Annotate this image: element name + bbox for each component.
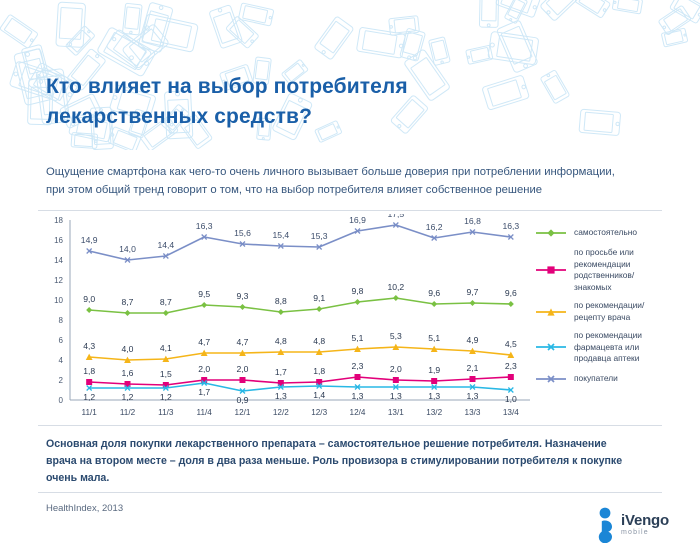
svg-text:9,3: 9,3 [237, 291, 249, 301]
svg-text:4,8: 4,8 [313, 336, 325, 346]
svg-text:9,5: 9,5 [198, 289, 210, 299]
svg-text:1,8: 1,8 [313, 366, 325, 376]
svg-text:4,1: 4,1 [160, 343, 172, 353]
svg-text:11/1: 11/1 [82, 408, 98, 417]
legend-item-1[interactable]: самостоятельно [534, 226, 694, 240]
svg-text:0,9: 0,9 [237, 395, 249, 405]
svg-text:4,5: 4,5 [505, 339, 517, 349]
svg-text:9,6: 9,6 [428, 288, 440, 298]
legend-item-label: по просьбе илирекомендацииродственников/… [568, 247, 634, 293]
svg-text:9,0: 9,0 [83, 294, 95, 304]
svg-text:13/2: 13/2 [426, 408, 442, 417]
svg-text:2,1: 2,1 [467, 363, 479, 373]
svg-text:13/1: 13/1 [388, 408, 404, 417]
svg-text:1,2: 1,2 [122, 392, 134, 402]
svg-text:1,2: 1,2 [83, 392, 95, 402]
svg-text:2,0: 2,0 [390, 364, 402, 374]
svg-text:1,3: 1,3 [467, 391, 479, 401]
svg-text:16,3: 16,3 [196, 221, 213, 231]
conclusion-line-2: врача на втором месте – доля в два раза … [46, 453, 656, 470]
svg-text:14: 14 [54, 256, 63, 265]
svg-text:12/2: 12/2 [273, 408, 289, 417]
subtitle-line-2: при этом общий тренд говорит о том, что … [46, 181, 666, 199]
svg-text:11/4: 11/4 [197, 408, 213, 417]
svg-text:17,5: 17,5 [387, 214, 404, 219]
svg-text:9,8: 9,8 [352, 286, 364, 296]
svg-text:9,6: 9,6 [505, 288, 517, 298]
svg-text:1,7: 1,7 [275, 367, 287, 377]
svg-text:14,9: 14,9 [81, 235, 98, 245]
svg-text:15,6: 15,6 [234, 228, 251, 238]
svg-text:1,0: 1,0 [505, 394, 517, 404]
svg-text:1,3: 1,3 [352, 391, 364, 401]
legend-marker-icon [534, 226, 568, 240]
legend-item-label: покупатели [568, 373, 618, 385]
svg-text:12: 12 [54, 276, 63, 285]
svg-text:14,0: 14,0 [119, 244, 136, 254]
ivengo-logo-text: iVengo mobile [616, 513, 669, 538]
svg-text:11/3: 11/3 [158, 408, 174, 417]
svg-text:10,2: 10,2 [387, 282, 404, 292]
svg-text:13/4: 13/4 [503, 408, 519, 417]
svg-text:6: 6 [59, 336, 64, 345]
svg-text:8,7: 8,7 [122, 297, 134, 307]
svg-text:1,6: 1,6 [122, 368, 134, 378]
title-line-1: Кто влияет на выбор потребителя [46, 72, 516, 102]
svg-text:4,7: 4,7 [237, 337, 249, 347]
svg-text:5,1: 5,1 [352, 333, 364, 343]
legend-marker-icon [534, 305, 568, 319]
svg-text:16,8: 16,8 [464, 216, 481, 226]
svg-text:5,3: 5,3 [390, 331, 402, 341]
legend-item-label: самостоятельно [568, 227, 637, 239]
svg-text:16,3: 16,3 [502, 221, 519, 231]
svg-text:5,1: 5,1 [428, 333, 440, 343]
svg-text:1,5: 1,5 [160, 369, 172, 379]
legend-item-2[interactable]: по просьбе илирекомендацииродственников/… [534, 247, 694, 293]
svg-text:1,3: 1,3 [390, 391, 402, 401]
svg-text:2,3: 2,3 [352, 361, 364, 371]
svg-text:1,2: 1,2 [160, 392, 172, 402]
svg-text:4,9: 4,9 [467, 335, 479, 345]
source-note: HealthIndex, 2013 [46, 503, 123, 514]
svg-text:16,2: 16,2 [426, 222, 443, 232]
svg-text:1,3: 1,3 [428, 391, 440, 401]
svg-text:4,8: 4,8 [275, 336, 287, 346]
subtitle-line-1: Ощущение смартфона как чего-то очень лич… [46, 163, 666, 181]
chart-legend: самостоятельнопо просьбе илирекомендации… [534, 226, 694, 393]
legend-item-label: по рекомендации/рецепту врача [568, 300, 644, 323]
legend-item-label: по рекомендациифармацевта илипродавца ап… [568, 330, 642, 365]
svg-text:4,0: 4,0 [122, 344, 134, 354]
svg-text:16: 16 [54, 236, 63, 245]
svg-text:15,4: 15,4 [272, 230, 289, 240]
legend-item-4[interactable]: по рекомендациифармацевта илипродавца ап… [534, 330, 694, 365]
subtitle: Ощущение смартфона как чего-то очень лич… [46, 163, 666, 199]
svg-text:4: 4 [59, 356, 64, 365]
legend-marker-icon [534, 372, 568, 386]
conclusion-text: Основная доля покупки лекарственного пре… [46, 436, 656, 487]
svg-text:1,9: 1,9 [428, 365, 440, 375]
svg-text:1,4: 1,4 [313, 390, 325, 400]
page-title: Кто влияет на выбор потребителя лекарств… [46, 72, 516, 132]
legend-marker-icon [534, 263, 568, 277]
divider-bottom [38, 492, 662, 493]
legend-item-5[interactable]: покупатели [534, 372, 694, 386]
svg-text:9,7: 9,7 [467, 287, 479, 297]
legend-item-3[interactable]: по рекомендации/рецепту врача [534, 300, 694, 323]
legend-marker-icon [534, 340, 568, 354]
svg-text:2,0: 2,0 [237, 364, 249, 374]
svg-text:13/3: 13/3 [465, 408, 481, 417]
ivengo-logo-mark [598, 507, 616, 543]
svg-text:8,7: 8,7 [160, 297, 172, 307]
svg-text:9,1: 9,1 [313, 293, 325, 303]
svg-text:18: 18 [54, 216, 63, 225]
svg-text:16,9: 16,9 [349, 215, 366, 225]
conclusion-line-3: очень мала. [46, 470, 656, 487]
title-line-2: лекарственных средств? [46, 102, 516, 132]
line-chart: 02468101214161811/111/211/311/412/112/21… [38, 214, 538, 426]
svg-text:4,3: 4,3 [83, 341, 95, 351]
svg-text:12/4: 12/4 [350, 408, 366, 417]
divider-top [38, 210, 662, 211]
svg-text:15,3: 15,3 [311, 231, 328, 241]
svg-text:14,4: 14,4 [157, 240, 174, 250]
ivengo-logo-sub: mobile [621, 528, 669, 538]
svg-text:8,8: 8,8 [275, 296, 287, 306]
svg-text:1,8: 1,8 [83, 366, 95, 376]
svg-text:4,7: 4,7 [198, 337, 210, 347]
svg-text:12/1: 12/1 [235, 408, 251, 417]
svg-text:10: 10 [54, 296, 63, 305]
svg-text:1,3: 1,3 [275, 391, 287, 401]
svg-text:2: 2 [59, 376, 64, 385]
ivengo-logo: iVengo mobile [598, 505, 690, 545]
conclusion-line-1: Основная доля покупки лекарственного пре… [46, 436, 656, 453]
svg-text:12/3: 12/3 [311, 408, 327, 417]
ivengo-logo-name: iVengo [621, 513, 669, 528]
svg-text:8: 8 [59, 316, 64, 325]
svg-text:0: 0 [59, 396, 64, 405]
svg-text:2,3: 2,3 [505, 361, 517, 371]
svg-text:11/2: 11/2 [120, 408, 136, 417]
svg-text:1,7: 1,7 [198, 387, 210, 397]
svg-text:2,0: 2,0 [198, 364, 210, 374]
